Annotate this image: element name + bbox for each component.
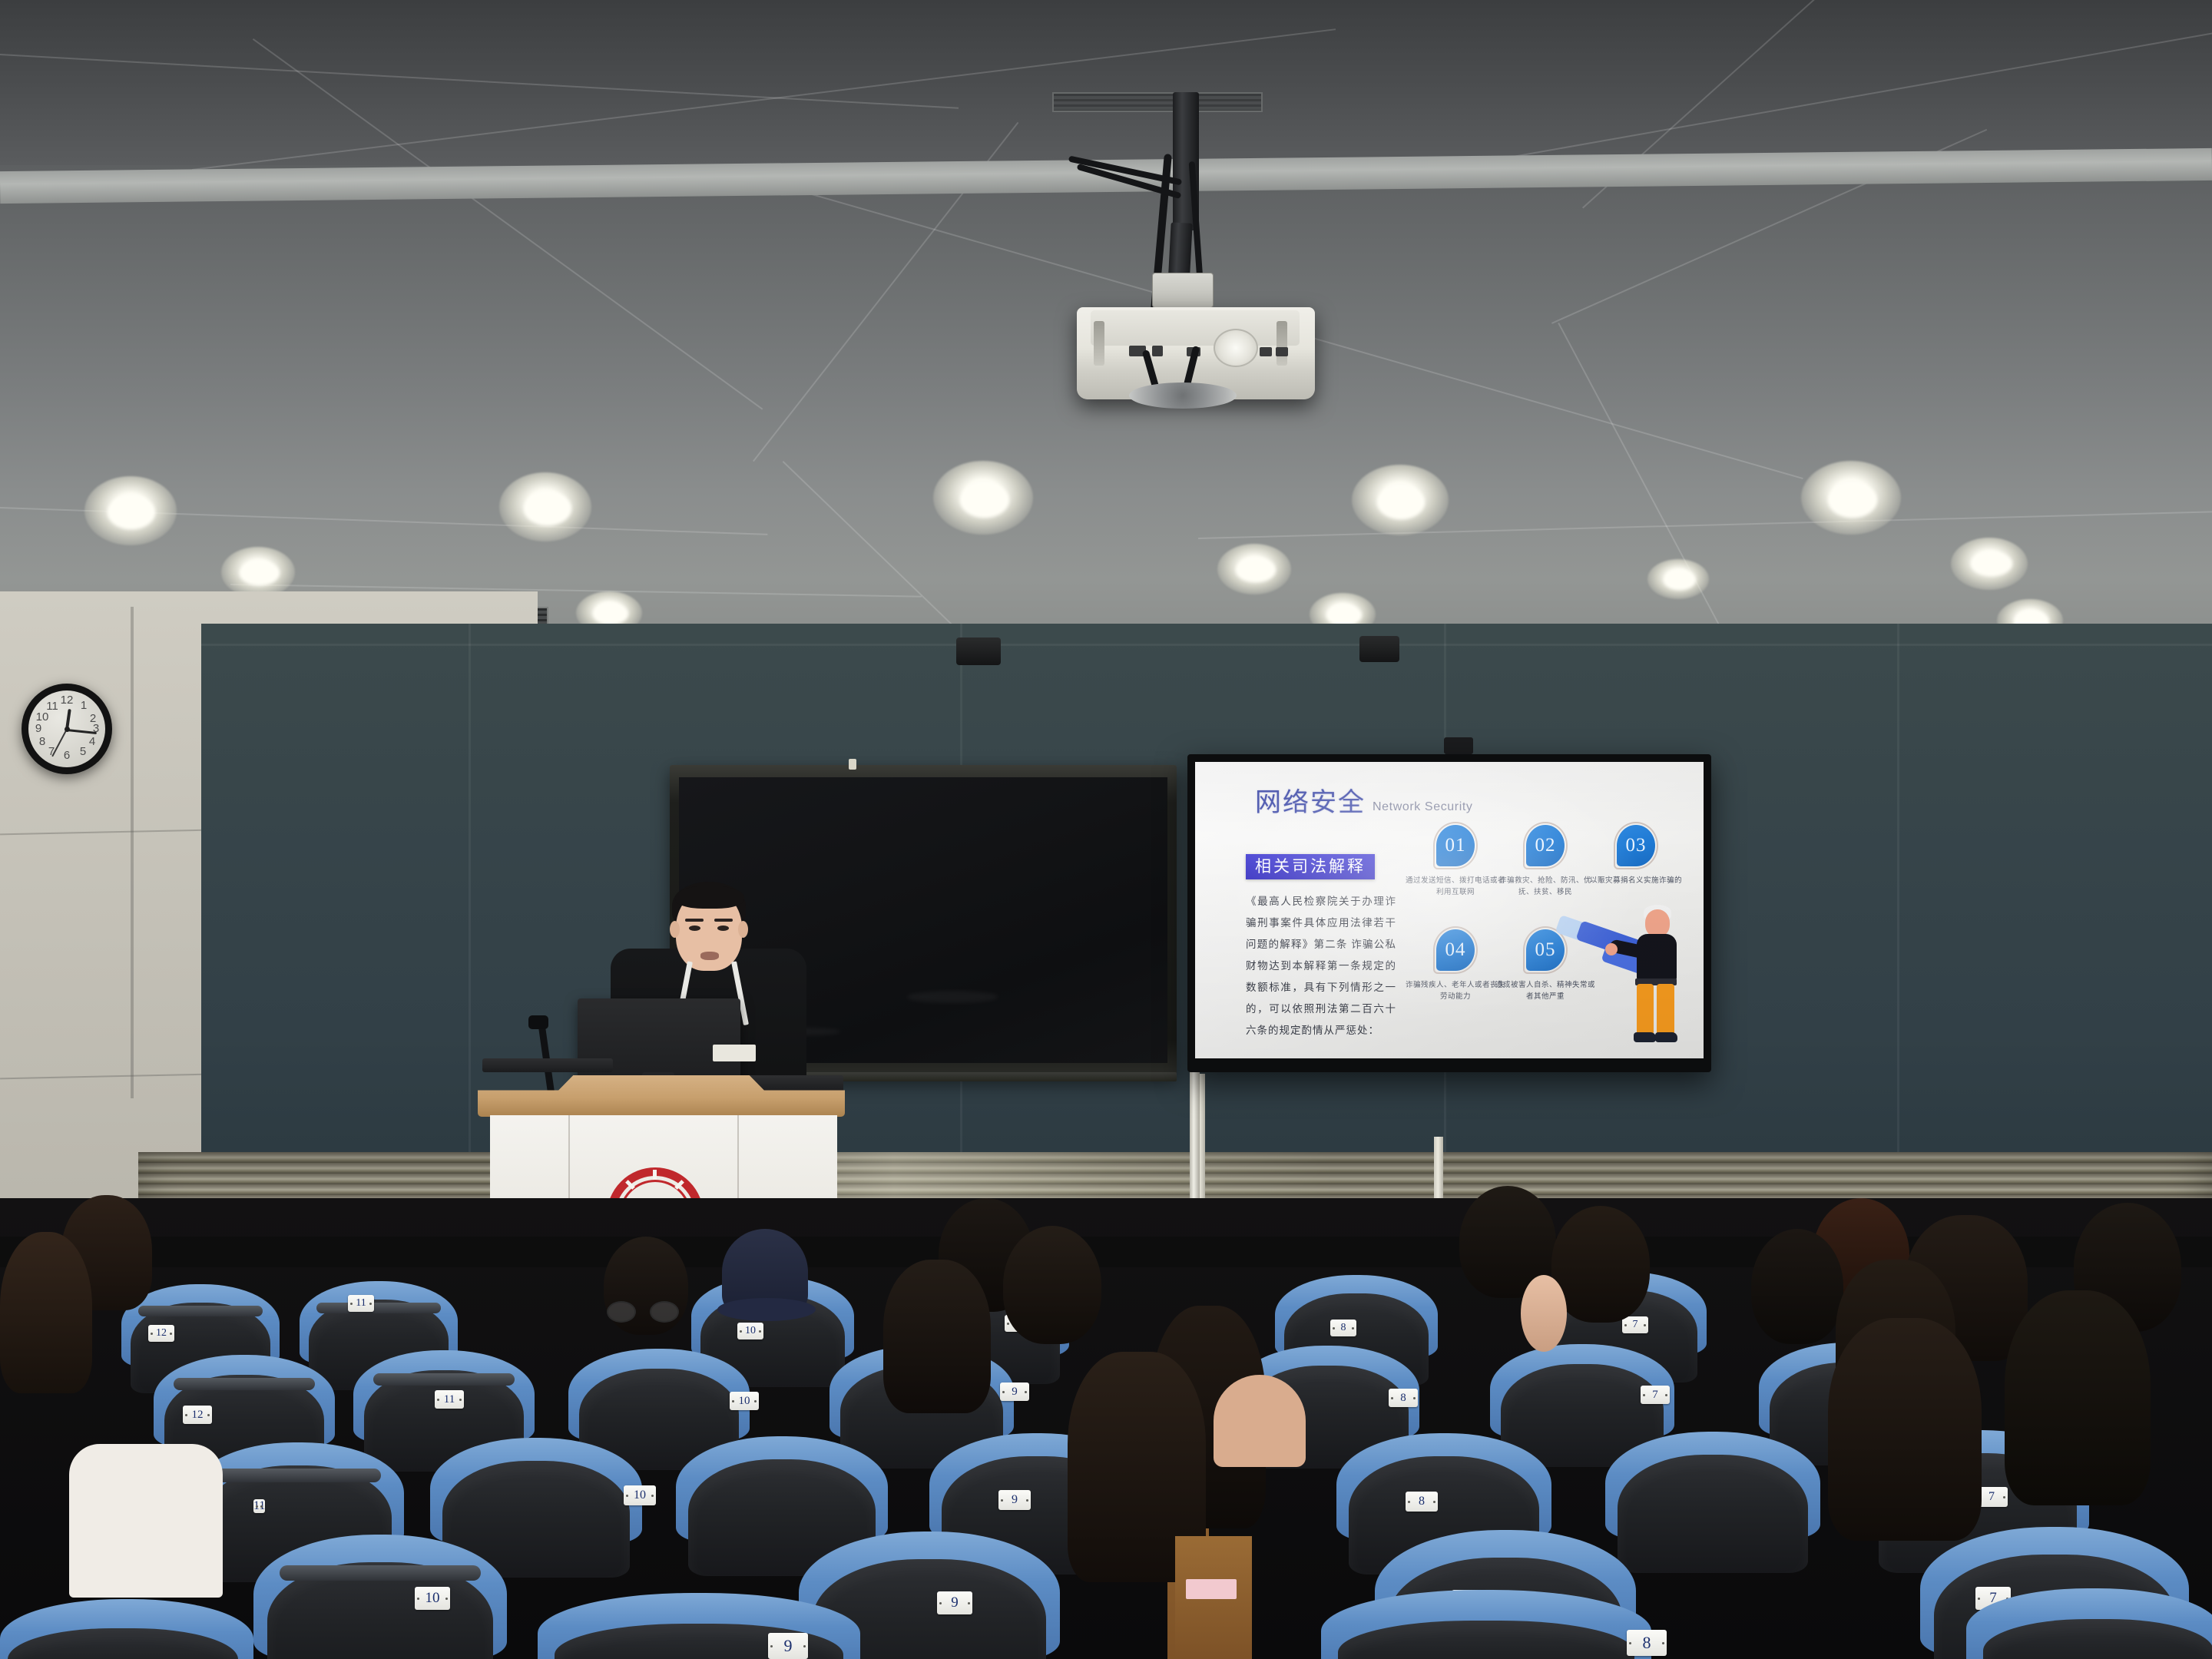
speaker-eye	[717, 926, 729, 931]
ceiling-downlight-core	[1664, 570, 1696, 590]
slide-item-shield-02: 02	[1523, 822, 1568, 869]
screen-display-area: 网络安全 Network Security 相关司法解释 《最高人民检察院关于办…	[1195, 762, 1704, 1058]
clock-face: 12 1 2 3 4 5 6 7 8 9 10 11	[28, 690, 105, 767]
ceiling-upper-dark-panel	[0, 0, 2212, 165]
seat-number-plate: 11	[435, 1390, 464, 1409]
emblem-key-dash	[653, 1170, 657, 1180]
audience-head	[2005, 1290, 2151, 1505]
seat-back-rim	[174, 1378, 315, 1390]
slide-body-text: 《最高人民检察院关于办理诈骗刑事案件具体应用法律若干问题的解释》第二条 诈骗公私…	[1246, 891, 1396, 1042]
seat-number-plate: 12	[148, 1325, 174, 1342]
clock-numeral: 8	[35, 735, 49, 749]
mascot-hand	[1605, 943, 1618, 955]
shield-fill: 05	[1526, 929, 1565, 971]
mascot-head	[1645, 909, 1670, 937]
speaker-eye	[689, 926, 700, 931]
wall-speaker	[956, 637, 1001, 665]
seat-number-plate: 7	[1622, 1316, 1648, 1333]
seat-number-plate: 8	[1389, 1389, 1418, 1407]
speaker-eyebrow	[714, 919, 733, 922]
blackboard-top-clip	[849, 759, 856, 770]
slide-section-banner: 相关司法解释	[1246, 854, 1375, 879]
seat-number-plate: 12	[183, 1406, 212, 1424]
projector-vent-slot	[1277, 321, 1287, 366]
projector-vent-slot	[1094, 321, 1104, 366]
projector-port	[1260, 347, 1272, 356]
aisle-paper-item	[1186, 1579, 1237, 1599]
seat-number-plate: 10	[737, 1323, 763, 1339]
seat-back-rim	[316, 1303, 441, 1313]
seat-number-plate: 10	[415, 1587, 450, 1610]
clock-numeral: 5	[76, 745, 90, 759]
seat-back-rim	[215, 1469, 381, 1482]
mascot-legs	[1637, 984, 1654, 1035]
slide-title-english: Network Security	[1373, 801, 1473, 816]
seat-back-rim	[138, 1306, 263, 1316]
ceiling-downlight-core	[240, 561, 280, 585]
seat-number-plate: 10	[730, 1392, 759, 1410]
wall-speaker	[1444, 737, 1473, 754]
seat-number-plate: 11	[348, 1295, 374, 1312]
shield-number: 02	[1535, 835, 1556, 856]
seat-number-plate: 8	[1627, 1630, 1667, 1656]
podium-keyboard	[482, 1058, 613, 1072]
slide-title-chinese: 网络安全	[1255, 790, 1366, 816]
shield-fill: 04	[1436, 929, 1475, 971]
audience-head	[1751, 1229, 1843, 1344]
projector-ceiling-clamp	[1152, 273, 1214, 308]
slide-item-shield-04: 04	[1433, 926, 1478, 974]
ceiling-downlight-core	[1828, 482, 1877, 518]
speaker-fringe	[675, 886, 744, 909]
slide-item-caption-04: 诈骗残疾人、老年人或者丧失劳动能力	[1405, 980, 1506, 1004]
mascot-shoe	[1634, 1032, 1656, 1042]
seat-number-plate: 11	[253, 1499, 265, 1513]
audience-head	[883, 1260, 991, 1413]
blackboard-scuff	[906, 991, 998, 1003]
audience-head	[1003, 1226, 1101, 1344]
audience-head	[1521, 1275, 1567, 1352]
clock-numeral: 1	[77, 699, 91, 713]
shield-fill: 02	[1526, 825, 1565, 866]
seat-number-plate: 9	[1000, 1382, 1029, 1401]
clock-numeral: 12	[60, 694, 74, 707]
shield-number: 03	[1626, 835, 1647, 856]
seat-number-plate: 9	[937, 1591, 972, 1614]
ceiling-air-vent	[1052, 92, 1263, 112]
slide-item-caption-02: 诈骗救灾、抢险、防汛、优抚、扶贫、移民	[1495, 876, 1596, 899]
audience-cap-brim	[717, 1298, 816, 1321]
shield-number: 04	[1445, 939, 1466, 961]
ceiling-downlight-core	[1326, 604, 1362, 626]
audience-glasses	[607, 1301, 636, 1323]
stage-wall-seam	[201, 644, 2212, 646]
seat-number-plate: 8	[1330, 1320, 1356, 1336]
stage-wall-seam	[1897, 624, 1899, 1161]
shield-fill: 03	[1617, 825, 1655, 866]
shield-number: 01	[1445, 835, 1466, 856]
speaker-mouth	[700, 952, 719, 960]
projector-back-panel	[1091, 310, 1300, 346]
clock-numeral: 11	[45, 700, 59, 714]
clock-center-pin	[65, 727, 70, 732]
projector-lens	[1129, 382, 1237, 409]
audience-head	[1828, 1318, 1982, 1541]
ceiling-downlight-core	[960, 482, 1009, 518]
shield-fill: 01	[1436, 825, 1475, 866]
wall-speaker	[1359, 636, 1399, 662]
slide-item-caption-05: 造成被害人自杀、精神失常或者其他严重	[1495, 980, 1596, 1004]
seat-back-shell	[1618, 1455, 1808, 1573]
stage-wall-seam	[469, 624, 471, 1161]
projector-port	[1152, 346, 1163, 356]
seat-number-plate: 7	[1641, 1386, 1670, 1404]
seat-back-rim	[280, 1565, 481, 1581]
seat-back-rim	[373, 1373, 515, 1386]
audience-shoulder-skin	[1214, 1375, 1306, 1467]
ceiling-downlight-core	[108, 495, 155, 529]
podium-label-sticker	[713, 1045, 756, 1061]
slide: 网络安全 Network Security 相关司法解释 《最高人民检察院关于办…	[1195, 762, 1704, 1058]
slide-title: 网络安全 Network Security	[1255, 790, 1473, 816]
audience-head	[0, 1232, 92, 1393]
seat-number-plate: 10	[624, 1485, 656, 1505]
ceiling-downlight-core	[524, 492, 571, 525]
left-wall-seam	[131, 607, 134, 1098]
slide-item-shield-03: 03	[1614, 822, 1658, 869]
speaker-eyebrow	[685, 919, 704, 922]
ceiling-downlight-core	[593, 603, 628, 624]
projector-port	[1276, 347, 1288, 356]
ceiling-downlight-core	[1377, 485, 1425, 519]
slide-item-caption-03: 以赈灾募捐名义实施诈骗的	[1585, 876, 1687, 887]
clock-numeral: 6	[60, 749, 74, 763]
podium-microphone-head	[528, 1015, 548, 1029]
audience-shoulders	[69, 1444, 223, 1598]
mascot-legs	[1657, 984, 1674, 1035]
seat-number-plate: 9	[998, 1490, 1031, 1510]
ceiling-downlight-core	[1236, 558, 1276, 582]
speaker-ear	[738, 921, 748, 938]
slide-item-shield-01: 01	[1433, 822, 1478, 869]
audience-glasses	[650, 1301, 679, 1323]
slide-item-caption-01: 通过发送短信、拨打电话或者利用互联网	[1405, 876, 1506, 899]
seat-number-plate: 8	[1406, 1492, 1438, 1512]
shield-number: 05	[1535, 939, 1556, 961]
speaker-ear	[670, 921, 680, 938]
seat-number-plate: 9	[768, 1633, 808, 1659]
ceiling-downlight-core	[1971, 551, 2012, 576]
wall-clock: 12 1 2 3 4 5 6 7 8 9 10 11	[22, 684, 112, 774]
mascot-shoe	[1655, 1032, 1677, 1042]
lecture-hall-photo: 12 1 2 3 4 5 6 7 8 9 10 11 网络安全 N	[0, 0, 2212, 1659]
projector-fan-vent	[1214, 329, 1258, 367]
